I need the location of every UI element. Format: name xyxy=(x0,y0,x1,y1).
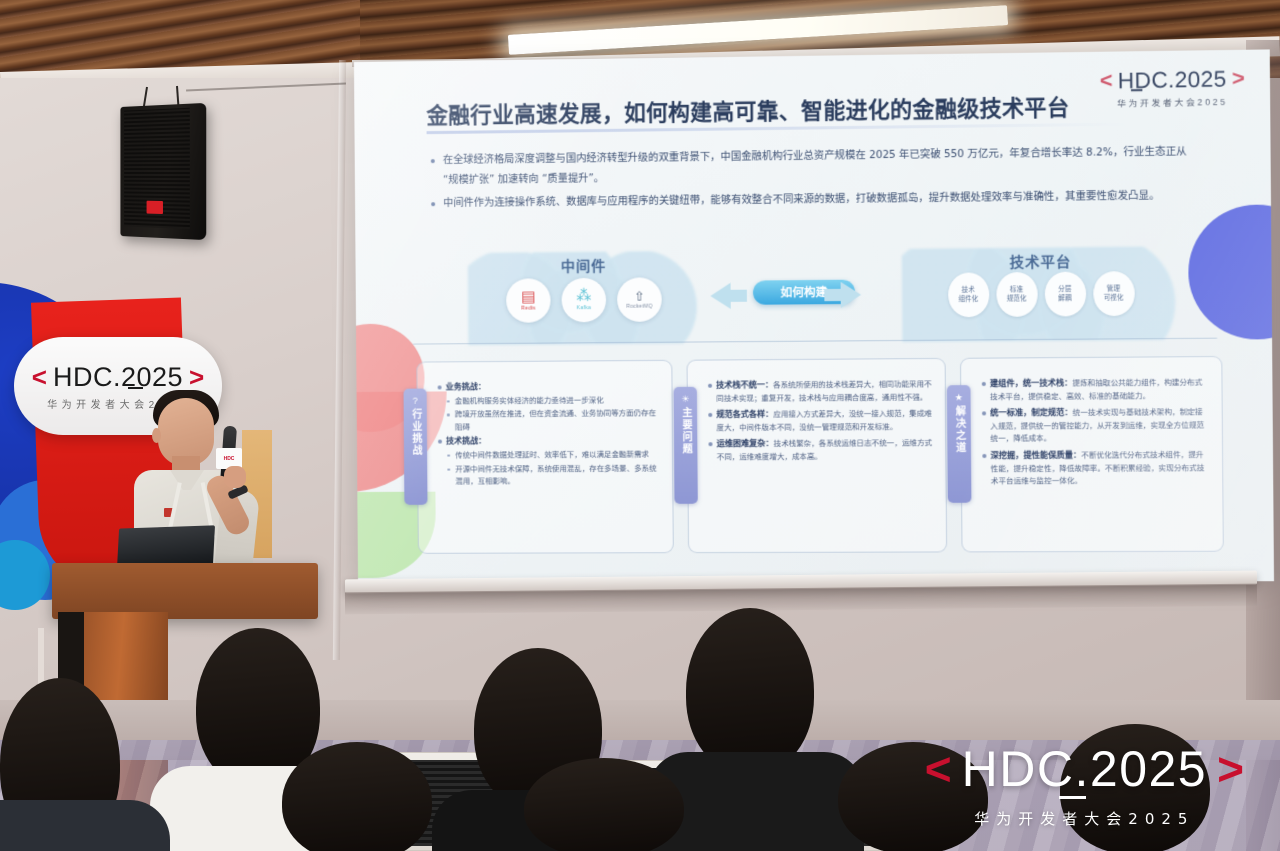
middleware-cloud: 中间件 ▤ Redis ⁂ Kafka ⇧ RocketMQ xyxy=(468,251,701,345)
bullet-dot-icon xyxy=(438,385,442,389)
arrow-right-icon xyxy=(841,282,862,308)
slide-panel-row: ? 行业挑战 业务挑战： 金融机构服务实体经济的能力亟待进一步深化 跨境开放虽然… xyxy=(416,356,1224,554)
panel-tab-label: 解决之道 xyxy=(951,405,967,454)
presenter-hand xyxy=(224,466,246,488)
slide-diagram: 中间件 ▤ Redis ⁂ Kafka ⇧ RocketMQ xyxy=(355,241,1272,350)
arrow-left-icon xyxy=(710,283,731,309)
event-logo-underscore xyxy=(1059,796,1086,799)
mic-flag-label: HDC xyxy=(224,456,235,462)
chevron-right-icon: > xyxy=(1217,746,1244,792)
slide-bullet-list: 在全球经济格局深度调整与国内经济转型升级的双重背景下，中国金融机构行业总资产规模… xyxy=(429,142,1201,217)
panel-item-text: 统一标准，制定规范：统一技术实现与基础技术架构，制定接入规范，提供统一的管控能力… xyxy=(990,405,1209,446)
capability-pill: 标准 规范化 xyxy=(996,272,1038,317)
panel-item-text: 运维困难复杂：技术栈繁杂，各系统运维日志不统一，运维方式不同，运维难度增大，成本… xyxy=(717,436,934,464)
panel-tab-label: 行业挑战 xyxy=(408,409,423,457)
bullet-dot-icon xyxy=(982,454,986,458)
capability-pill: 管理 可视化 xyxy=(1093,271,1135,316)
middleware-logo-kafka: ⁂ Kafka xyxy=(561,278,606,323)
panel-sub-item: 开源中间件无技术保障，系统使用混乱，存在多场景、多系统混用，互相影响。 xyxy=(446,462,660,488)
middleware-logo-label: Kafka xyxy=(577,305,591,311)
panel-body: 技术栈不统一：各系统所使用的技术栈差异大，相同功能采用不同技术实现；重复开发，技… xyxy=(688,359,946,477)
capability-pill-row: 技术 组件化 标准 规范化 分层 解耦 管理 可视化 xyxy=(902,271,1181,318)
stage-plaque-wordmark: HDC.2025 xyxy=(53,362,183,393)
capability-label: 标准 规范化 xyxy=(1007,286,1027,304)
speaker-brand-badge xyxy=(147,201,163,214)
star-icon: ★ xyxy=(955,393,963,402)
panel-industry-challenges: ? 行业挑战 业务挑战： 金融机构服务实体经济的能力亟待进一步深化 跨境开放虽然… xyxy=(416,360,673,554)
stage-plaque-wordmark-row: < HDC.2025 > xyxy=(32,362,204,393)
panel-heading: 技术栈不统一： xyxy=(716,380,773,389)
presenter-ear xyxy=(152,428,161,443)
middleware-logo-row: ▤ Redis ⁂ Kafka ⇧ RocketMQ xyxy=(468,277,701,323)
panel-solutions: ★ 解决之道 建组件，统一技术栈：提炼和抽取公共能力组件，构建分布式技术平台，提… xyxy=(960,356,1224,552)
panel-sub-item: 金融机构服务实体经济的能力亟待进一步深化 xyxy=(446,394,660,408)
kafka-icon: ⁂ xyxy=(576,289,591,304)
bullet-dot-icon xyxy=(708,443,712,447)
chevron-right-icon: > xyxy=(189,362,204,393)
podium-top xyxy=(52,563,318,619)
event-logo-row: < HDC.2025 > xyxy=(925,744,1244,794)
panel-item: 运维困难复杂：技术栈繁杂，各系统运维日志不统一，运维方式不同，运维难度增大，成本… xyxy=(708,436,933,466)
middleware-logo-label: RocketMQ xyxy=(626,304,652,310)
audience-shoulders xyxy=(0,800,170,851)
panel-heading: 深挖掘，提性能保质量： xyxy=(991,450,1082,460)
bullet-dot-icon xyxy=(982,412,986,416)
chevron-left-icon: < xyxy=(925,746,952,792)
middleware-logo-rocketmq: ⇧ RocketMQ xyxy=(617,277,662,322)
panel-tab-solutions[interactable]: ★ 解决之道 xyxy=(947,385,972,503)
bullet-dot-icon xyxy=(708,384,712,388)
panel-main-problems: ☀ 主要问题 技术栈不统一：各系统所使用的技术栈差异大，相同功能采用不同技术实现… xyxy=(687,358,948,553)
panel-item-text: 技术栈不统一：各系统所使用的技术栈差异大，相同功能采用不同技术实现；重复开发，技… xyxy=(716,377,933,405)
pa-speaker xyxy=(120,103,206,240)
panel-tab-industry-challenges[interactable]: ? 行业挑战 xyxy=(404,389,428,505)
bullet-dot-icon xyxy=(438,440,442,444)
panel-heading: 规范各式各样： xyxy=(716,410,773,419)
panel-item: 规范各式各样：应用接入方式差异大，没统一接入规范，集成难度大，中间件版本不同，没… xyxy=(708,407,933,437)
panel-heading-row: 技术挑战： xyxy=(438,434,660,449)
event-logo-subtitle: 华为开发者大会2025 xyxy=(925,808,1244,829)
panel-heading: 建组件，统一技术栈： xyxy=(990,378,1072,388)
capability-label: 管理 可视化 xyxy=(1104,285,1124,303)
question-mark-icon: ? xyxy=(413,397,418,406)
bullet-text-2: 中间件作为连接操作系统、数据库与应用程序的关键纽带，能够有效整合不同来源的数据，… xyxy=(443,190,1160,209)
panel-item-text: 规范各式各样：应用接入方式差异大，没统一接入规范，集成难度大，中间件版本不同，没… xyxy=(716,407,933,435)
panel-heading: 技术挑战： xyxy=(446,435,486,449)
capability-pill: 技术 组件化 xyxy=(948,272,989,317)
tech-platform-cloud: 技术平台 技术 组件化 标准 规范化 分层 解耦 管理 可视化 xyxy=(902,246,1181,342)
bullet-dot-icon xyxy=(708,413,712,417)
panel-body: 业务挑战： 金融机构服务实体经济的能力亟待进一步深化 跨境开放虽然在推进，但在资… xyxy=(417,361,672,500)
chevron-left-icon: < xyxy=(32,362,47,393)
slide-logo-wordmark: HDC.2025 xyxy=(1118,66,1227,94)
tech-platform-cloud-title: 技术平台 xyxy=(902,250,1180,273)
sun-icon: ☀ xyxy=(681,395,689,404)
panel-heading: 业务挑战： xyxy=(446,380,486,394)
redis-icon: ▤ xyxy=(521,289,535,304)
ceiling-wood-slats-left xyxy=(0,0,360,72)
list-item: 在全球经济格局深度调整与国内经济转型升级的双重背景下，中国金融机构行业总资产规模… xyxy=(429,142,1200,191)
capability-label: 技术 组件化 xyxy=(958,286,978,304)
panel-item: 深挖掘，提性能保质量：不断优化迭代分布式技术组件，提升性能，提升稳定性，降低故障… xyxy=(982,448,1210,490)
list-item: 中间件作为连接操作系统、数据库与应用程序的关键纽带，能够有效整合不同来源的数据，… xyxy=(429,186,1200,214)
panel-item: 技术栈不统一：各系统所使用的技术栈差异大，相同功能采用不同技术实现；重复开发，技… xyxy=(708,377,933,407)
capability-label: 分层 解耦 xyxy=(1058,285,1071,303)
middleware-logo-redis: ▤ Redis xyxy=(506,278,551,323)
panel-item: 建组件，统一技术栈：提炼和抽取公共能力组件，构建分布式技术平台，提供稳定、高效、… xyxy=(982,375,1209,405)
audience-head xyxy=(524,758,684,851)
panel-item-text: 深挖掘，提性能保质量：不断优化迭代分布式技术组件，提升性能，提升稳定性，降低故障… xyxy=(991,448,1210,488)
panel-sub-item: 传统中间件数据处理延时、效率低下，难以满足金融新需求 xyxy=(446,448,660,462)
bullet-text-1: 在全球经济格局深度调整与国内经济转型升级的双重背景下，中国金融机构行业总资产规模… xyxy=(443,146,1187,186)
capability-pill: 分层 解耦 xyxy=(1044,272,1086,317)
audience-head xyxy=(686,608,814,774)
panel-sub-item: 跨境开放虽然在推进，但在资金流通、业务协同等方面仍存在阻碍 xyxy=(446,407,660,433)
event-logo-wordmark: HDC.2025 xyxy=(962,744,1207,794)
stage-plaque-underscore xyxy=(128,387,143,389)
panel-body: 建组件，统一技术栈：提炼和抽取公共能力组件，构建分布式技术平台，提供稳定、高效、… xyxy=(961,357,1222,501)
panel-heading: 运维困难复杂： xyxy=(717,439,774,448)
projection-screen: < HDC.2025 > 华为开发者大会2025 金融行业高速发展，如何构建高可… xyxy=(354,49,1274,583)
panel-item-text: 建组件，统一技术栈：提炼和抽取公共能力组件，构建分布式技术平台，提供稳定、高效、… xyxy=(990,375,1209,403)
middleware-cloud-title: 中间件 xyxy=(468,255,700,277)
panel-item: 统一标准，制定规范：统一技术实现与基础技术架构，制定接入规范，提供统一的管控能力… xyxy=(982,405,1210,448)
conference-room: < HDC.2025 > 华为开发者大会2025 < HDC.2025 > 华为… xyxy=(0,0,1280,851)
panel-tab-label: 主要问题 xyxy=(678,407,694,455)
panel-heading-row: 业务挑战： xyxy=(438,379,660,394)
bullet-dot-icon xyxy=(982,382,986,386)
panel-tab-main-problems[interactable]: ☀ 主要问题 xyxy=(674,387,698,504)
chevron-right-icon: > xyxy=(1232,67,1245,92)
rocket-icon: ⇧ xyxy=(634,290,645,303)
event-logo-overlay: < HDC.2025 > 华为开发者大会2025 xyxy=(925,744,1244,829)
middleware-logo-label: Redis xyxy=(521,306,535,312)
panel-heading: 统一标准，制定规范： xyxy=(990,408,1072,418)
audience-head xyxy=(282,742,432,851)
